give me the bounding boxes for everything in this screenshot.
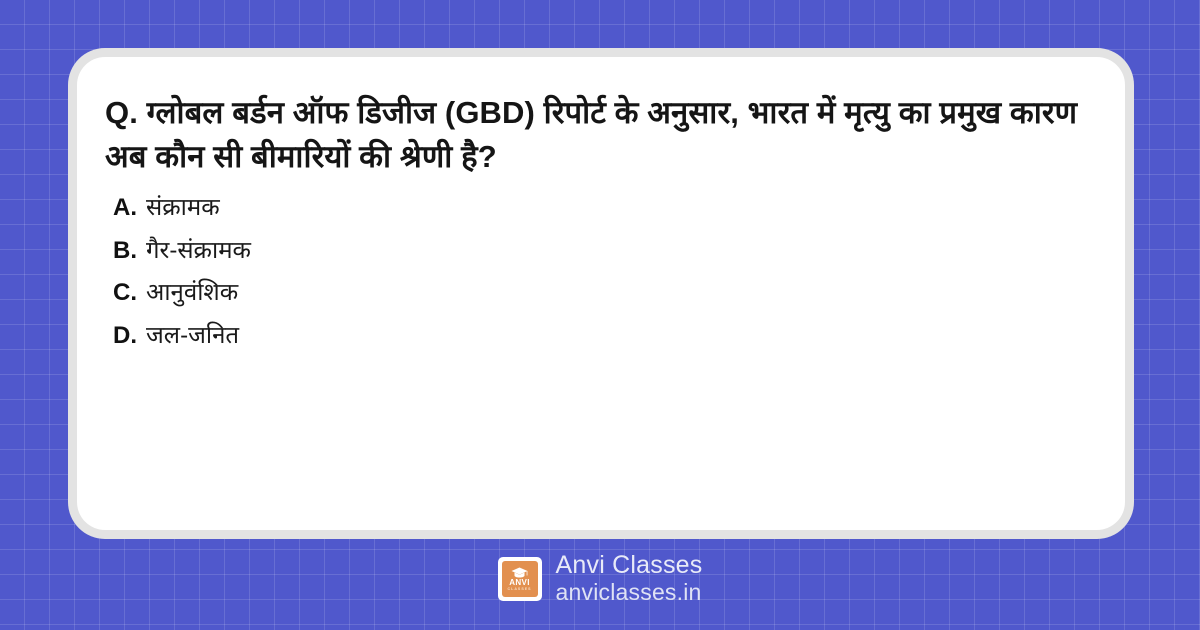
option-text-a: संक्रामक — [146, 193, 220, 224]
option-letter-d: D. — [113, 321, 146, 352]
option-row-b[interactable]: B. गैर-संक्रामक — [113, 236, 1095, 267]
question-text: Q. ग्लोबल बर्डन ऑफ डिजीज (GBD) रिपोर्ट क… — [105, 91, 1095, 179]
brand-text-block: Anvi Classes anviclasses.in — [556, 551, 703, 606]
brand-url: anviclasses.in — [556, 579, 703, 606]
brand-logo-word: ANVI — [509, 579, 530, 587]
options-list: A. संक्रामक B. गैर-संक्रामक C. आनुवंशिक … — [105, 193, 1095, 352]
option-letter-c: C. — [113, 278, 146, 309]
brand-logo: ANVI CLASSES — [498, 557, 542, 601]
option-text-d: जल-जनित — [146, 321, 239, 352]
option-row-c[interactable]: C. आनुवंशिक — [113, 278, 1095, 309]
option-row-a[interactable]: A. संक्रामक — [113, 193, 1095, 224]
graduation-cap-icon — [511, 567, 528, 578]
quiz-poster: Q. ग्लोबल बर्डन ऑफ डिजीज (GBD) रिपोर्ट क… — [0, 0, 1200, 630]
option-row-d[interactable]: D. जल-जनित — [113, 321, 1095, 352]
option-text-c: आनुवंशिक — [146, 278, 238, 309]
brand-logo-square: ANVI CLASSES — [502, 561, 538, 597]
brand-logo-subword: CLASSES — [508, 588, 532, 592]
option-text-b: गैर-संक्रामक — [146, 236, 251, 267]
option-letter-b: B. — [113, 236, 146, 267]
brand-footer: ANVI CLASSES Anvi Classes anviclasses.in — [0, 549, 1200, 609]
option-letter-a: A. — [113, 193, 146, 224]
brand-name: Anvi Classes — [556, 551, 703, 579]
question-card: Q. ग्लोबल बर्डन ऑफ डिजीज (GBD) रिपोर्ट क… — [77, 57, 1125, 530]
